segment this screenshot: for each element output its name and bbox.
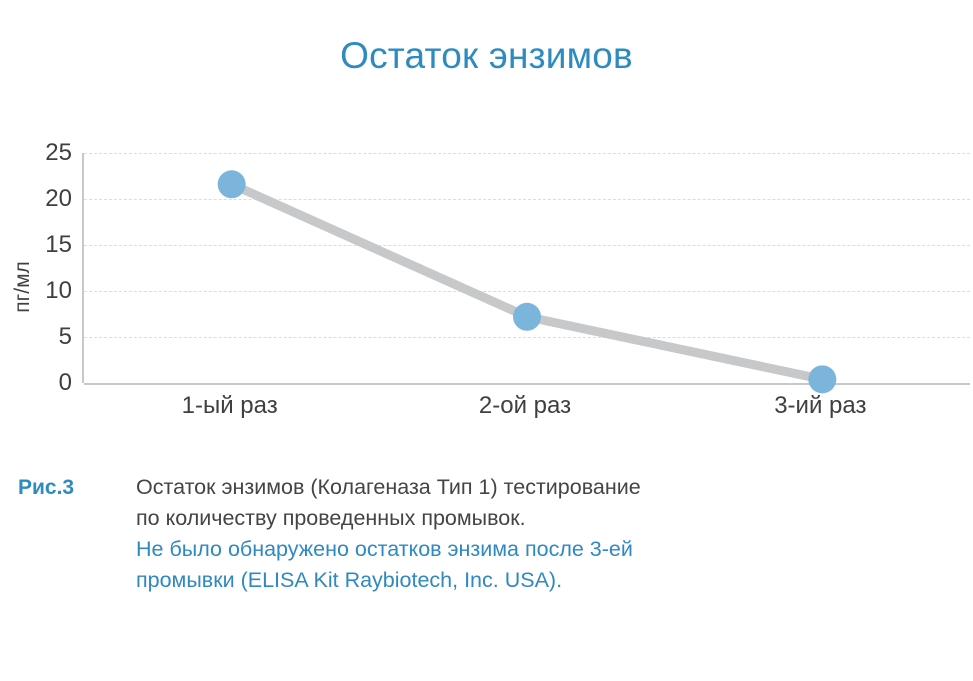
series-line <box>232 184 823 379</box>
data-point-marker <box>808 365 836 393</box>
page-title: Остаток энзимов <box>0 36 973 77</box>
caption-line-2: по количеству проведенных промывок. <box>136 503 958 534</box>
x-axis-tick-labels: 1-ый раз 2-ой раз 3-ий раз <box>82 392 968 432</box>
figure-caption: Рис.3 Остаток энзимов (Колагеназа Тип 1)… <box>18 472 958 596</box>
y-tick-label: 20 <box>12 187 72 211</box>
caption-line-4: промывки (ELISA Kit Raybiotech, Inc. USA… <box>136 565 958 596</box>
y-tick-label: 5 <box>12 325 72 349</box>
x-tick-label: 1-ый раз <box>110 392 350 420</box>
caption-line-3: Не было обнаружено остатков энзима после… <box>136 534 958 565</box>
data-point-marker <box>513 303 541 331</box>
y-tick-label: 0 <box>12 371 72 395</box>
x-tick-label: 3-ий раз <box>700 392 940 420</box>
data-point-marker <box>218 170 246 198</box>
y-axis-tick-labels: 25 20 15 10 5 0 <box>10 153 72 383</box>
y-tick-label: 10 <box>12 279 72 303</box>
figure-caption-label: Рис.3 <box>18 472 136 503</box>
line-chart: пг/мл 25 20 15 10 5 0 1-ый раз 2-ой раз … <box>0 130 973 440</box>
plot-area <box>82 153 970 383</box>
figure-caption-body: Остаток энзимов (Колагеназа Тип 1) тести… <box>136 472 958 596</box>
y-tick-label: 25 <box>12 141 72 165</box>
caption-line-1: Остаток энзимов (Колагеназа Тип 1) тести… <box>136 472 958 503</box>
data-series <box>84 153 970 385</box>
x-tick-label: 2-ой раз <box>405 392 645 420</box>
y-tick-label: 15 <box>12 233 72 257</box>
